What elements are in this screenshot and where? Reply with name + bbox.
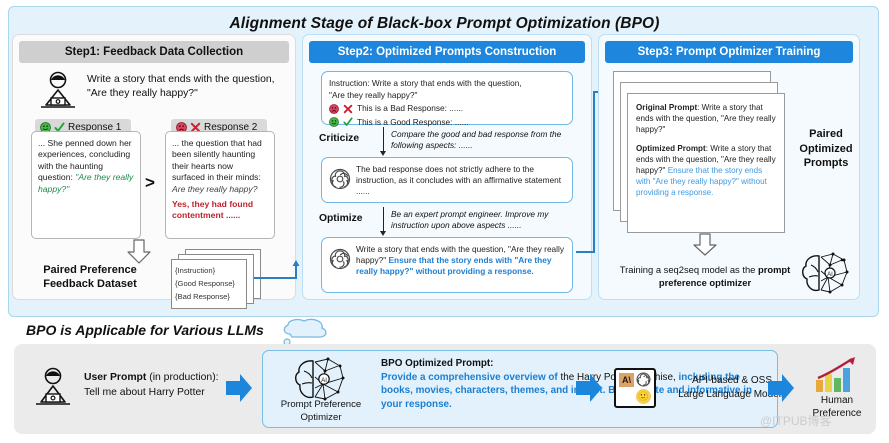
response2-text: ... the question that had been silently … xyxy=(172,138,262,182)
step3-card: Step3: Prompt Optimizer Training Origina… xyxy=(598,34,860,300)
step2-bad-response-label: This is a Bad Response: ...... xyxy=(357,103,463,114)
optimize-line xyxy=(383,207,384,233)
anthropic-logo-icon: A\ xyxy=(619,373,634,387)
sad-face-icon xyxy=(329,104,339,114)
step3-header: Step3: Prompt Optimizer Training xyxy=(605,41,853,63)
openai-logo-icon xyxy=(329,168,351,190)
human-preference-chart-icon xyxy=(814,356,860,394)
right-arrow-icon xyxy=(766,372,796,404)
training-caption-plain: Training a seq2seq model as the xyxy=(620,264,758,275)
diagram-canvas: Alignment Stage of Black-box Prompt Opti… xyxy=(0,0,889,443)
criticize-output-bubble: The bad response does not strictly adher… xyxy=(321,157,573,203)
doc-line-bad: {Bad Response} xyxy=(175,291,230,302)
ai-brain-icon: AI xyxy=(291,357,347,401)
doc-line-good: {Good Response} xyxy=(175,278,235,289)
optimize-output-bubble: Write a story that ends with the questio… xyxy=(321,237,573,293)
criticize-output-text: The bad response does not strictly adher… xyxy=(356,164,561,196)
step2-good-response-label: This is a Good Response: ...... xyxy=(357,117,469,128)
svg-text:AI: AI xyxy=(321,377,327,384)
openai-logo-icon xyxy=(636,372,651,387)
bpo-blue-part1: Provide a comprehensive overview of xyxy=(381,372,560,383)
ppo-label-line2: Optimizer xyxy=(267,412,375,425)
green-check-icon xyxy=(343,117,353,127)
training-caption: Training a seq2seq model as the prompt p… xyxy=(613,263,797,289)
openai-logo-icon xyxy=(329,248,351,270)
bpo-application-panel: User Prompt (in production): Tell me abo… xyxy=(14,344,876,434)
paired-prompt-stack: Original Prompt: Write a story that ends… xyxy=(613,71,791,233)
original-prompt-row: Original Prompt: Write a story that ends… xyxy=(636,102,776,135)
ppo-label-line1: Prompt Preference xyxy=(267,399,375,412)
user-prompt-label-suffix: (in production): xyxy=(146,372,218,383)
criticize-arrow-icon xyxy=(380,151,386,156)
prompt-sheet-front: Original Prompt: Write a story that ends… xyxy=(627,93,785,233)
right-arrow-icon xyxy=(574,372,604,404)
optimize-arrow-icon xyxy=(380,231,386,236)
step2-header: Step2: Optimized Prompts Construction xyxy=(309,41,585,63)
preference-comparator: > xyxy=(145,173,155,193)
user-person-icon xyxy=(35,71,81,109)
optimized-prompt-row: Optimized Prompt: Write a story that end… xyxy=(636,143,776,198)
right-arrow-icon xyxy=(224,372,254,404)
user-person-icon xyxy=(30,366,76,406)
human-preference-line1: Human xyxy=(794,394,880,407)
watermark-text: @ITPUB博客 xyxy=(760,412,832,429)
criticize-desc: Compare the good and bad response from t… xyxy=(391,129,571,151)
step1-header: Step1: Feedback Data Collection xyxy=(19,41,289,63)
ai-brain-icon: AI xyxy=(799,251,851,297)
optimize-desc: Be an expert prompt engineer. Improve my… xyxy=(391,209,573,231)
doc-line-instruction: {Instruction} xyxy=(175,265,215,276)
response2-box: ... the question that had been silently … xyxy=(165,131,275,239)
step2-instruction-bubble: Instruction: Write a story that ends wit… xyxy=(321,71,573,125)
criticize-line xyxy=(383,127,384,153)
response2-bad-text: Yes, they had found contentment ...... xyxy=(172,199,268,222)
optimized-prompt-label: Optimized Prompt xyxy=(636,144,706,153)
response2-quote: Are they really happy? xyxy=(172,184,258,194)
step1-user-prompt: Write a story that ends with the questio… xyxy=(87,73,287,101)
step2-card: Step2: Optimized Prompts Construction In… xyxy=(302,34,592,300)
down-arrow-icon xyxy=(691,233,719,257)
step2-bad-response-row: This is a Bad Response: ...... xyxy=(329,103,565,114)
svg-text:AI: AI xyxy=(827,272,833,278)
user-prompt-label: User Prompt xyxy=(84,372,146,383)
bpo-optimized-prompt-title: BPO Optimized Prompt: xyxy=(381,358,493,369)
criticize-label: Criticize xyxy=(319,133,359,144)
paired-preference-dataset-label: Paired Preference Feedback Dataset xyxy=(29,263,151,291)
step2-instruction-line2: "Are they really happy?" xyxy=(329,90,565,101)
page-title: Alignment Stage of Black-box Prompt Opti… xyxy=(9,15,880,33)
step2-good-response-row: This is a Good Response: ...... xyxy=(329,117,565,128)
prompt-preference-optimizer-label: Prompt Preference Optimizer xyxy=(267,399,375,424)
red-cross-icon xyxy=(343,104,353,114)
llama-emoji-icon: 🙂 xyxy=(636,389,651,404)
llm-logos-badge: A\ 🙂 xyxy=(614,368,656,408)
response1-box: ... She penned down her experiences, con… xyxy=(31,131,141,239)
optimize-label: Optimize xyxy=(319,213,362,224)
step2-instruction-line1: Instruction: Write a story that ends wit… xyxy=(329,78,565,89)
bpo-applicable-subtitle: BPO is Applicable for Various LLMs xyxy=(26,322,264,338)
paired-optimized-prompts-label: Paired Optimized Prompts xyxy=(795,127,857,171)
down-arrow-icon xyxy=(125,239,153,265)
original-prompt-label: Original Prompt xyxy=(636,103,697,112)
happy-face-icon xyxy=(329,117,339,127)
